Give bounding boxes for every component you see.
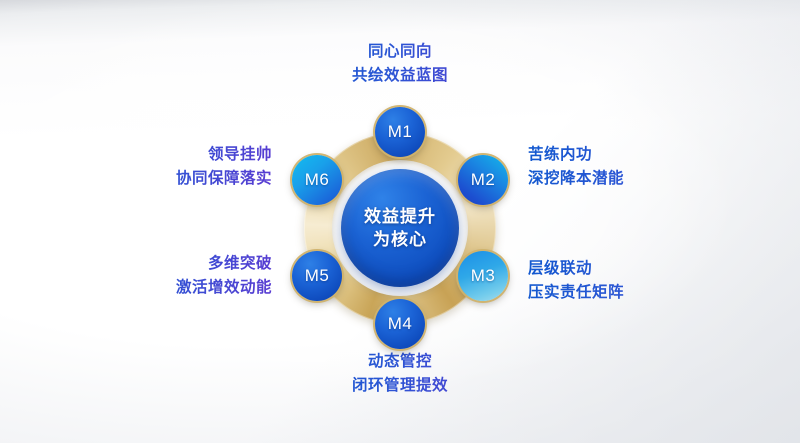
node-m2[interactable]: M2 bbox=[458, 155, 508, 205]
label-m2-line1: 苦练内功 bbox=[528, 143, 738, 167]
label-m1-line2: 共绘效益蓝图 bbox=[290, 64, 510, 88]
label-m5-line1: 多维突破 bbox=[62, 252, 272, 276]
label-m2-line2: 深挖降本潜能 bbox=[528, 167, 738, 191]
label-m3: 层级联动 压实责任矩阵 bbox=[528, 257, 738, 304]
node-m2-label: M2 bbox=[471, 170, 496, 190]
center-line2: 为核心 bbox=[373, 228, 427, 251]
diagram-canvas: 同心同向 共绘效益蓝图 苦练内功 深挖降本潜能 层级联动 压实责任矩阵 动态管控… bbox=[0, 0, 800, 443]
label-m4-line2: 闭环管理提效 bbox=[290, 374, 510, 398]
label-m3-line1: 层级联动 bbox=[528, 257, 738, 281]
label-m1-line1: 同心同向 bbox=[290, 40, 510, 64]
node-m3[interactable]: M3 bbox=[458, 251, 508, 301]
node-m5[interactable]: M5 bbox=[292, 251, 342, 301]
node-m1[interactable]: M1 bbox=[375, 107, 425, 157]
node-m3-label: M3 bbox=[471, 266, 496, 286]
node-m6[interactable]: M6 bbox=[292, 155, 342, 205]
center-line1: 效益提升 bbox=[364, 205, 436, 228]
label-m3-line2: 压实责任矩阵 bbox=[528, 281, 738, 305]
label-m4-line1: 动态管控 bbox=[290, 350, 510, 374]
center-circle: 效益提升 为核心 bbox=[341, 169, 459, 287]
label-m5: 多维突破 激活增效动能 bbox=[62, 252, 272, 299]
label-m6-line1: 领导挂帅 bbox=[62, 143, 272, 167]
label-m4: 动态管控 闭环管理提效 bbox=[290, 350, 510, 397]
node-m6-label: M6 bbox=[305, 170, 330, 190]
label-m6: 领导挂帅 协同保障落实 bbox=[62, 143, 272, 190]
node-m5-label: M5 bbox=[305, 266, 330, 286]
node-m1-label: M1 bbox=[388, 122, 413, 142]
node-m4-label: M4 bbox=[388, 314, 413, 334]
node-m4[interactable]: M4 bbox=[375, 299, 425, 349]
label-m2: 苦练内功 深挖降本潜能 bbox=[528, 143, 738, 190]
label-m5-line2: 激活增效动能 bbox=[62, 276, 272, 300]
label-m1: 同心同向 共绘效益蓝图 bbox=[290, 40, 510, 87]
label-m6-line2: 协同保障落实 bbox=[62, 167, 272, 191]
